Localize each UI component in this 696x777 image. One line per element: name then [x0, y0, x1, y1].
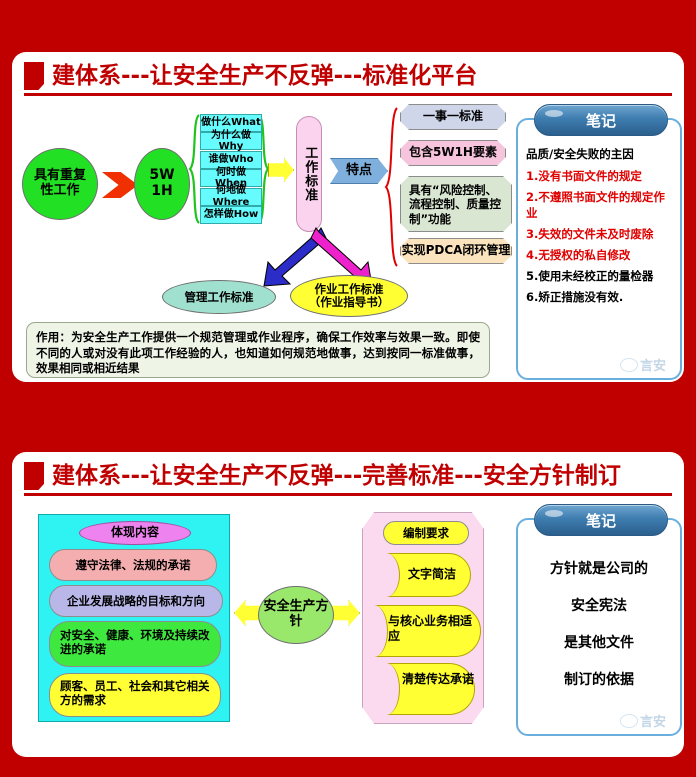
slide-deck: 建体系---让安全生产不反弹---标准化平台 具有重复性工作 5W 1H	[0, 0, 696, 777]
arrow-right-yellow-icon	[330, 600, 360, 626]
content-item: 顾客、员工、社会和其它相关方的需求	[49, 673, 221, 717]
content-item: 对安全、健康、环境及持续改进的承诺	[49, 621, 221, 667]
note-line: 方针就是公司的	[528, 558, 670, 578]
watermark-text: 言安	[640, 355, 666, 374]
content-header: 体现内容	[79, 521, 191, 545]
requirement-item: 文字简洁	[377, 553, 471, 597]
requirement-label: 清楚传达承诺	[402, 672, 474, 687]
slide1-canvas: 具有重复性工作 5W 1H 做什么What 为什么做Why 谁做Who 何时做	[12, 100, 684, 382]
flag-icon	[24, 62, 44, 90]
question-item: 为什么做Why	[200, 132, 262, 150]
feature-item: 实现PDCA闭环管理	[400, 238, 512, 264]
note-line: 是其他文件	[528, 632, 670, 652]
watermark-text: 言安	[640, 711, 666, 730]
question-item: 怎样做How	[200, 206, 262, 224]
note-card: 方针就是公司的 安全宪法 是其他文件 制订的依据 言安	[516, 518, 682, 736]
requirements-header: 编制要求	[383, 521, 469, 545]
watermark: 言安	[620, 711, 666, 730]
note-header-pill: 笔记	[534, 504, 668, 536]
slide2-header: 建体系---让安全生产不反弹---完善标准---安全方针制订	[12, 452, 684, 500]
note-item: 4.无授权的私自修改	[526, 247, 672, 263]
features-label: 特点	[330, 158, 388, 184]
content-item: 遵守法律、法规的承诺	[49, 549, 217, 581]
arrow-right-red-icon	[102, 172, 138, 198]
node-5w1h: 5W 1H	[134, 148, 190, 220]
node-5w1h-line1: 5W	[149, 168, 174, 184]
note-card: 品质/安全失败的主因 1.没有书面文件的规定 2.不遵照书面文件的规定作业 3.…	[516, 118, 682, 380]
note-line: 制订的依据	[528, 669, 670, 689]
features-brace-icon	[384, 106, 398, 268]
node-work-standard-label: 工作标准	[302, 146, 317, 202]
arrow-right-yellow-icon	[268, 158, 294, 182]
brace-left-icon	[188, 114, 200, 224]
function-description-box: 作用：为安全生产工作提供一个规范管理或作业程序，确保工作效率与效果一致。即使不同…	[26, 322, 490, 378]
flag-icon	[24, 462, 44, 490]
note-heading: 品质/安全失败的主因	[526, 146, 672, 162]
title-underline	[24, 493, 672, 496]
slide-safety-policy: 建体系---让安全生产不反弹---完善标准---安全方针制订 体现内容 遵守法律…	[12, 452, 684, 757]
title-underline	[24, 93, 672, 96]
node-repetitive-work: 具有重复性工作	[22, 148, 98, 220]
feature-item: 具有“风险控制、流程控制、质量控制”功能	[400, 176, 512, 232]
note-header-pill: 笔记	[534, 104, 668, 136]
requirement-item: 清楚传达承诺	[377, 663, 475, 715]
note-item: 5.使用未经校正的量检器	[526, 268, 672, 284]
note-item: 6.矫正措施没有效.	[526, 289, 672, 305]
requirement-label: 文字简洁	[408, 568, 456, 581]
slide1-header: 建体系---让安全生产不反弹---标准化平台	[12, 52, 684, 100]
feature-item: 包含5W1H要素	[400, 140, 506, 166]
slide2-title: 建体系---让安全生产不反弹---完善标准---安全方针制订	[52, 456, 621, 490]
requirements-panel: 编制要求 文字简洁 与核心业务相适应 清楚传达承诺	[362, 512, 484, 724]
node-work-standard: 工作标准	[296, 116, 322, 232]
requirement-item: 与核心业务相适应	[365, 605, 481, 657]
slide1-title: 建体系---让安全生产不反弹---标准化平台	[52, 56, 477, 90]
note-item: 2.不遵照书面文件的规定作业	[526, 189, 672, 221]
node-operation-standard-line2: （作业指导书）	[309, 296, 390, 309]
watermark: 言安	[620, 355, 666, 374]
content-item: 企业发展战略的目标和方向	[49, 585, 223, 617]
wechat-bubble-icon	[620, 358, 638, 372]
slide2-canvas: 体现内容 遵守法律、法规的承诺 企业发展战略的目标和方向 对安全、健康、环境及持…	[12, 500, 684, 757]
feature-item: 一事一标准	[400, 104, 506, 130]
question-list: 做什么What 为什么做Why 谁做Who 何时做When 何地做Where 怎…	[200, 114, 262, 224]
note-line: 安全宪法	[528, 595, 670, 615]
wechat-bubble-icon	[620, 714, 638, 728]
requirement-label: 与核心业务相适应	[388, 614, 480, 644]
note-item: 3.失效的文件未及时废除	[526, 226, 672, 242]
node-management-standard: 管理工作标准	[162, 280, 276, 314]
node-operation-standard: 作业工作标准 （作业指导书）	[290, 275, 408, 317]
node-5w1h-line2: 1H	[151, 184, 172, 200]
node-safety-policy: 安全生产方针	[258, 586, 334, 644]
content-panel: 体现内容 遵守法律、法规的承诺 企业发展战略的目标和方向 对安全、健康、环境及持…	[38, 514, 230, 722]
slide-standardization-platform: 建体系---让安全生产不反弹---标准化平台 具有重复性工作 5W 1H	[12, 52, 684, 382]
question-item: 何地做Where	[200, 188, 262, 206]
note-item: 1.没有书面文件的规定	[526, 168, 672, 184]
